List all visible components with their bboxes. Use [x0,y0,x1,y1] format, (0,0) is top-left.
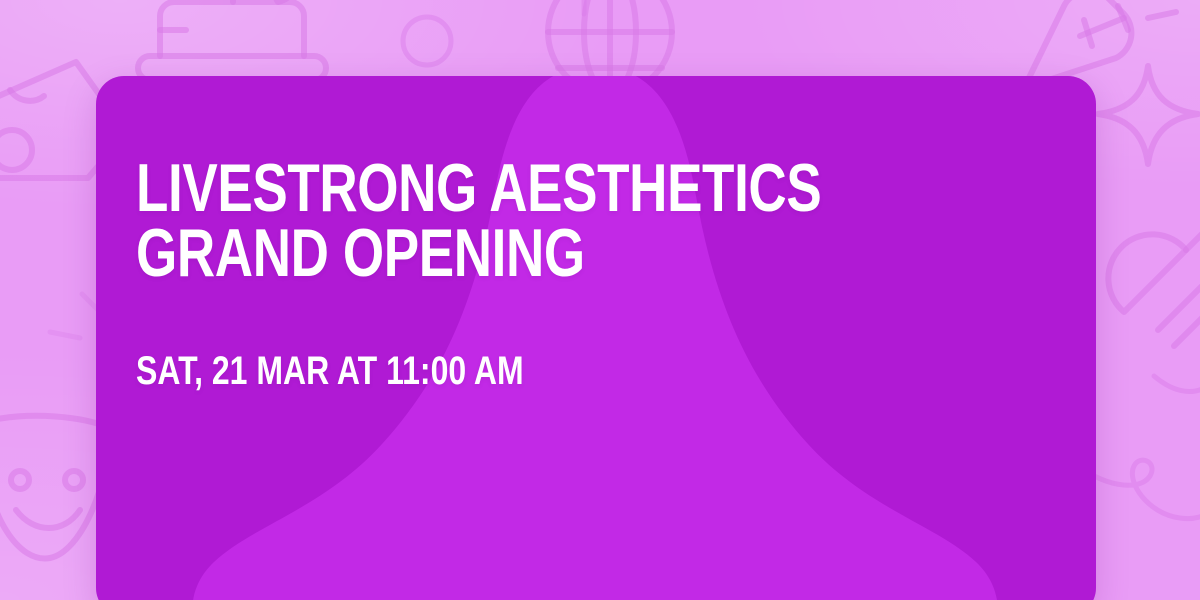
circle-outline-icon [392,6,462,76]
microphone-icon [1098,226,1200,386]
card-content: LIVESTRONG AESTHETICS GRAND OPENING SAT,… [136,76,1036,600]
event-banner: LIVESTRONG AESTHETICS GRAND OPENING SAT,… [0,0,1200,600]
event-title: LIVESTRONG AESTHETICS GRAND OPENING [136,156,838,287]
event-date-time: SAT, 21 MAR AT 11:00 AM [136,351,856,391]
sparkle-star-icon [1090,56,1200,176]
event-card[interactable]: LIVESTRONG AESTHETICS GRAND OPENING SAT,… [96,76,1096,600]
balloon-icon [556,0,616,80]
confetti-streak-icon [1072,2,1162,62]
